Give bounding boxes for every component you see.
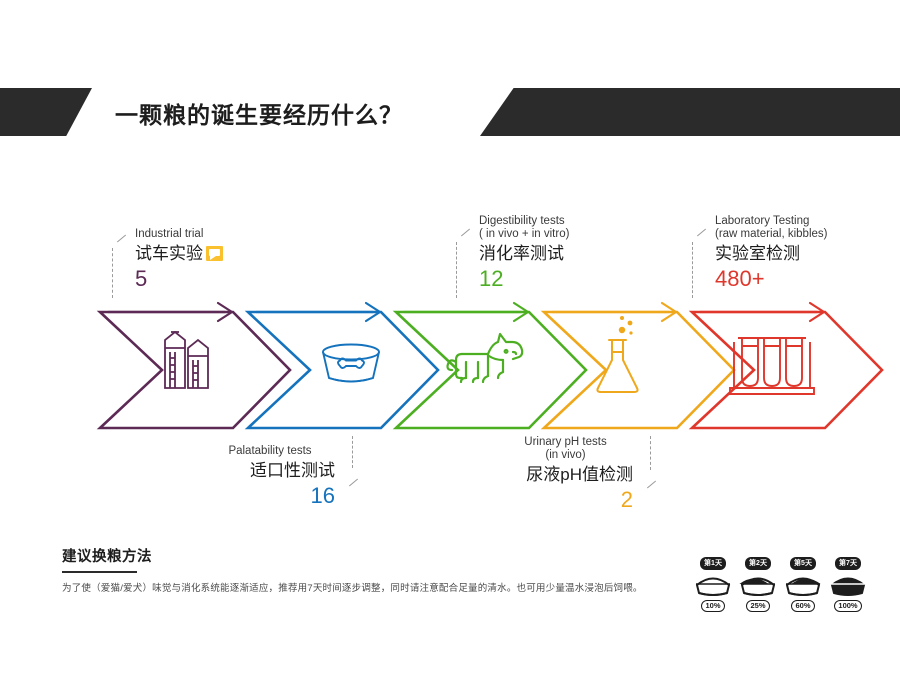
stage-cn-text: 实验室检测 (715, 242, 800, 265)
connector-palatability-tests (344, 436, 374, 498)
food-bowl-icon (829, 571, 867, 597)
feeding-schedule: 第1天 10% 第2天 25% 第5天 (694, 552, 867, 613)
stage-en-label-2: (raw material, kibbles) (715, 228, 827, 241)
bowl-percent: 25% (746, 600, 769, 612)
stage-count: 480+ (715, 266, 827, 292)
stage-en-label: Laboratory Testing (715, 215, 827, 228)
stage-chevron-palatability-tests[interactable] (248, 303, 438, 428)
connector-urinary-ph-tests (642, 436, 672, 500)
stage-chevron-laboratory-testing[interactable] (692, 303, 882, 428)
footer-divider (62, 571, 137, 573)
stage-count: 5 (135, 266, 223, 292)
bowl-percent: 10% (701, 600, 724, 612)
bowl-item: 第7天 100% (829, 552, 867, 613)
dog-bowl-icon (323, 345, 379, 382)
bowl-percent: 100% (834, 600, 861, 612)
stage-chevron-digestibility-tests[interactable] (396, 303, 586, 428)
bowl-day-badge: 第7天 (835, 557, 861, 570)
connector-digestibility-tests (452, 224, 482, 299)
stage-en-label-2: (in vivo) (498, 449, 633, 462)
stage-chevron-industrial-trial[interactable] (100, 303, 290, 428)
bowl-day-badge: 第2天 (745, 557, 771, 570)
stage-cn-text: 消化率测试 (479, 242, 564, 265)
stage-cn-text: 尿液pH值检测 (526, 463, 633, 486)
connector-industrial-trial (108, 228, 138, 298)
dog-icon (448, 334, 523, 382)
stage-count: 2 (498, 487, 633, 513)
stage-cn-label: 试车实验 (135, 242, 223, 265)
stage-cn-text: 试车实验 (135, 242, 203, 265)
process-flow (0, 290, 900, 450)
stage-en-label: Digestibility tests (479, 215, 569, 228)
flask-icon (597, 316, 637, 392)
stage-cn-label: 尿液pH值检测 (498, 463, 633, 486)
bowl-item: 第1天 10% (694, 552, 732, 613)
stage-label-digestibility-tests: Digestibility tests ( in vivo + in vitro… (479, 215, 569, 292)
flow-diagram (0, 290, 900, 450)
food-bowl-icon (784, 571, 822, 597)
stage-cn-label: 消化率测试 (479, 242, 569, 265)
stage-count: 16 (205, 483, 335, 509)
bowl-day-badge: 第1天 (700, 557, 726, 570)
stage-chevron-urinary-ph-tests[interactable] (544, 303, 734, 428)
stage-cn-label: 适口性测试 (205, 459, 335, 482)
infographic-canvas: 一颗粮的诞生要经历什么？ (0, 0, 900, 675)
grain-silo-icon (165, 332, 208, 388)
bowl-item: 第5天 60% (784, 552, 822, 613)
footer-body: 为了使（爱猫/爱犬）味觉与消化系统能逐渐适应，推荐用7天时间逐步调整，同时请注意… (62, 582, 682, 596)
page-title: 一颗粮的诞生要经历什么？ (115, 92, 475, 134)
connector-laboratory-testing (688, 224, 718, 299)
bowl-item: 第2天 25% (739, 552, 777, 613)
stage-en-label: Palatability tests (205, 445, 335, 458)
stage-label-laboratory-testing: Laboratory Testing (raw material, kibble… (715, 215, 827, 292)
stage-en-label-2: ( in vivo + in vitro) (479, 228, 569, 241)
stage-label-industrial-trial: Industrial trial 试车实验 5 (135, 228, 223, 292)
stage-label-palatability-tests: Palatability tests 适口性测试 16 (205, 445, 335, 509)
food-bowl-icon (694, 571, 732, 597)
stage-en-label: Industrial trial (135, 228, 223, 241)
stage-cn-text: 适口性测试 (250, 459, 335, 482)
footer-heading: 建议换粮方法 (62, 545, 682, 566)
footer-note: 建议换粮方法 为了使（爱猫/爱犬）味觉与消化系统能逐渐适应，推荐用7天时间逐步调… (62, 545, 682, 596)
stage-label-urinary-ph-tests: Urinary pH tests (in vivo) 尿液pH值检测 2 (498, 436, 633, 513)
stage-en-label: Urinary pH tests (498, 436, 633, 449)
food-bowl-icon (739, 571, 777, 597)
stage-count: 12 (479, 266, 569, 292)
bowl-day-badge: 第5天 (790, 557, 816, 570)
speech-bubble-icon (206, 246, 223, 261)
stage-cn-label: 实验室检测 (715, 242, 827, 265)
header-bar-right (480, 88, 900, 136)
header-bar-left (0, 88, 92, 136)
test-tube-rack-icon (730, 338, 814, 394)
bowl-percent: 60% (791, 600, 814, 612)
